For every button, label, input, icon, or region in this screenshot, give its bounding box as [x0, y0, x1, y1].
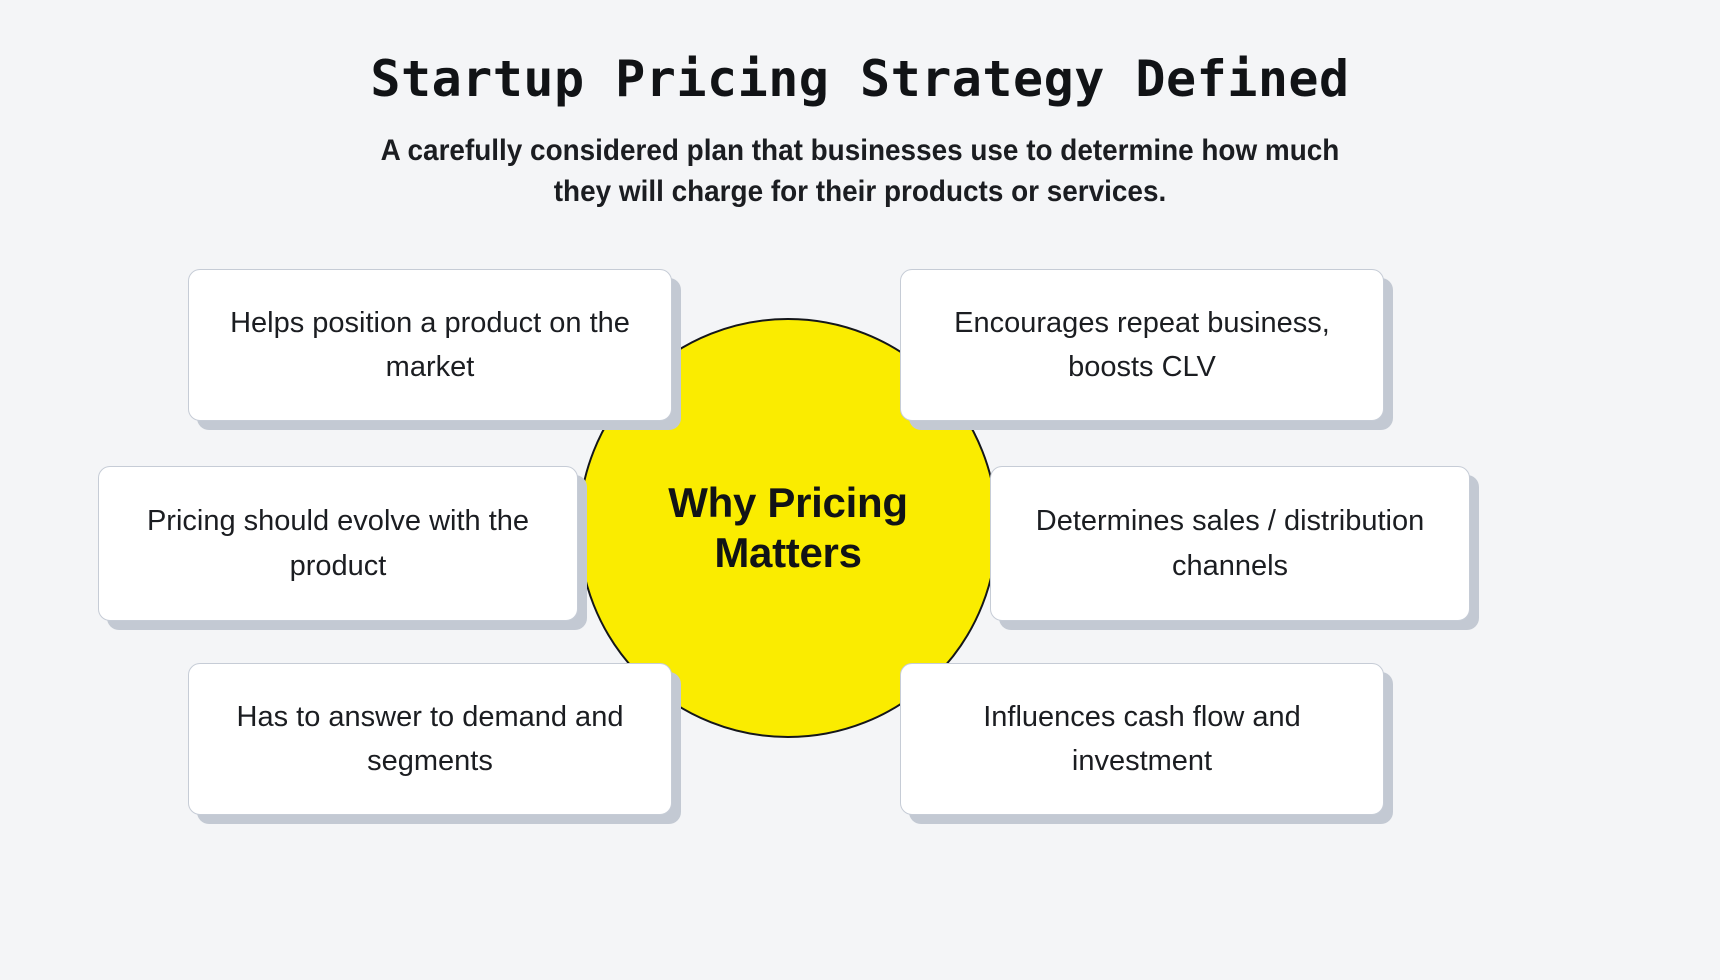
benefit-card-top-right: Encourages repeat business, boosts CLV — [900, 269, 1384, 421]
infographic-canvas: Startup Pricing Strategy Defined A caref… — [0, 0, 1720, 980]
center-hub-label: Why Pricing Matters — [668, 478, 907, 579]
benefit-card-middle-left: Pricing should evolve with the product — [98, 466, 578, 621]
benefit-card-label: Encourages repeat business, boosts CLV — [923, 301, 1361, 389]
benefit-card-label: Pricing should evolve with the product — [121, 499, 555, 587]
header: Startup Pricing Strategy Defined A caref… — [0, 0, 1720, 213]
benefit-card-label: Helps position a product on the market — [211, 301, 649, 389]
page-subtitle: A carefully considered plan that busines… — [367, 107, 1353, 213]
benefit-card-label: Has to answer to demand and segments — [211, 695, 649, 783]
benefit-card-bottom-right: Influences cash flow and investment — [900, 663, 1384, 815]
benefit-card-middle-right: Determines sales / distribution channels — [990, 466, 1470, 621]
benefit-card-top-left: Helps position a product on the market — [188, 269, 672, 421]
benefit-card-label: Determines sales / distribution channels — [1013, 499, 1447, 587]
benefit-card-label: Influences cash flow and investment — [923, 695, 1361, 783]
page-title: Startup Pricing Strategy Defined — [0, 0, 1720, 107]
benefit-card-bottom-left: Has to answer to demand and segments — [188, 663, 672, 815]
